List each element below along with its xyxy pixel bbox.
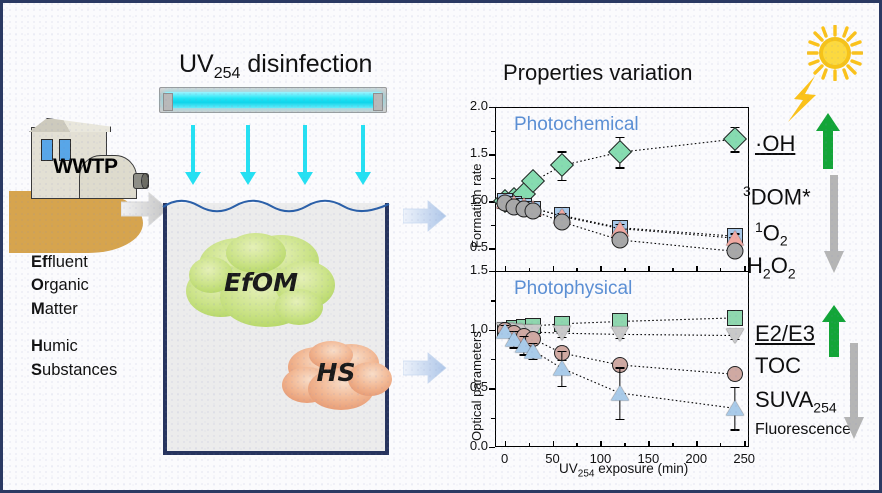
uv-title-rest: disinfection bbox=[240, 50, 372, 78]
photophysical-plot: Photophysical bbox=[495, 271, 749, 447]
toc-legend-label: TOC bbox=[755, 353, 801, 379]
xlabel-sub: 254 bbox=[578, 469, 595, 480]
xlabel-main: UV bbox=[559, 461, 578, 476]
up-arrow-green-top-icon bbox=[815, 113, 841, 169]
sun-icon bbox=[807, 25, 863, 81]
axis-label-uv-exposure: UV254 exposure (min) bbox=[559, 461, 688, 480]
suva-sub: 254 bbox=[813, 399, 836, 415]
efom-term-line3: Matter bbox=[31, 298, 161, 321]
series-line bbox=[3, 3, 882, 493]
efom-term-line1: Effluent bbox=[31, 251, 161, 274]
uv-ray-2 bbox=[246, 125, 250, 173]
lamp-cap-right bbox=[373, 93, 383, 111]
properties-variation-title: Properties variation bbox=[503, 60, 693, 86]
dom-text: DOM* bbox=[751, 184, 811, 209]
uv-title-main: UV bbox=[179, 50, 214, 78]
uv-disinfection-title: UV254 disinfection bbox=[179, 50, 372, 83]
series-line bbox=[3, 3, 882, 493]
hydrogen-peroxide-legend-label: H2O2 bbox=[747, 253, 796, 281]
singlet-oxygen-legend-label: 1O2 bbox=[755, 219, 788, 249]
uv-ray-1 bbox=[191, 125, 195, 173]
hs-term-line2: Substances bbox=[31, 359, 161, 382]
lightning-bolt-icon bbox=[785, 75, 819, 123]
down-arrow-gray-top-icon bbox=[823, 175, 845, 273]
o2-superscript: 1 bbox=[755, 219, 763, 235]
window-icon bbox=[41, 139, 53, 161]
uv-ray-3 bbox=[303, 125, 307, 173]
xlabel-rest: exposure (min) bbox=[594, 461, 688, 476]
uv-title-sub: 254 bbox=[214, 65, 241, 82]
o2-subscript: 2 bbox=[780, 233, 788, 249]
photochemical-plot: Photochemical bbox=[495, 107, 749, 272]
outflow-pipe-icon bbox=[133, 173, 149, 189]
oh-legend-label: ·OH bbox=[755, 131, 795, 157]
graphical-abstract-figure: WWTP Effluent Organic Matter Humic Subst… bbox=[0, 0, 882, 493]
h2o2-sub2: 2 bbox=[788, 265, 796, 281]
lamp-cap-left bbox=[163, 93, 173, 111]
axis-label-optical-parameters: Optical parameters bbox=[469, 271, 484, 441]
hs-blob-label: HS bbox=[281, 358, 391, 387]
left-terms-legend: Effluent Organic Matter Humic Substances bbox=[31, 251, 161, 382]
dom-superscript: 3 bbox=[743, 183, 751, 199]
fluorescence-legend-label: Fluorescence bbox=[755, 421, 851, 439]
water-surface-icon bbox=[161, 196, 391, 214]
series-line bbox=[3, 3, 882, 493]
uv-ray-4 bbox=[361, 125, 365, 173]
transfer-arrow-top bbox=[403, 199, 447, 233]
h2o2-o: O bbox=[771, 253, 788, 278]
series-line bbox=[3, 3, 882, 493]
photochemical-panel-title: Photochemical bbox=[514, 114, 639, 136]
suva-legend-label: SUVA254 bbox=[755, 387, 837, 415]
e2e3-legend-label: E2/E3 bbox=[755, 321, 815, 347]
chart-overlay: 0.51.01.52.00.00.51.01.5050100150200250 bbox=[3, 3, 882, 493]
o2-text: O bbox=[763, 220, 780, 245]
photophysical-panel-title: Photophysical bbox=[514, 278, 632, 300]
axis-label-formation-rate: Formation rate bbox=[469, 98, 484, 248]
efom-blob-label: EfOM bbox=[181, 268, 341, 297]
uv-tube bbox=[163, 92, 383, 108]
series-line bbox=[3, 3, 882, 493]
hs-term-line1: Humic bbox=[31, 335, 161, 358]
wwtp-label: WWTP bbox=[53, 155, 117, 179]
plant-roof bbox=[29, 118, 111, 132]
series-line bbox=[3, 3, 882, 493]
suva-main: SUVA bbox=[755, 387, 813, 412]
dom-legend-label: 3DOM* bbox=[743, 183, 811, 210]
x-tick-label: 250 bbox=[726, 451, 762, 466]
down-arrow-gray-bottom-icon bbox=[843, 343, 865, 439]
h2o2-h: H bbox=[747, 253, 763, 278]
transfer-arrow-bottom bbox=[403, 351, 447, 385]
x-tick-label: 0 bbox=[487, 451, 523, 466]
y-tick bbox=[489, 447, 495, 448]
series-line bbox=[3, 3, 882, 493]
series-line bbox=[3, 3, 882, 493]
efom-term-line2: Organic bbox=[31, 274, 161, 297]
uv-lamp-icon bbox=[159, 87, 387, 113]
h2o2-sub1: 2 bbox=[763, 265, 771, 281]
